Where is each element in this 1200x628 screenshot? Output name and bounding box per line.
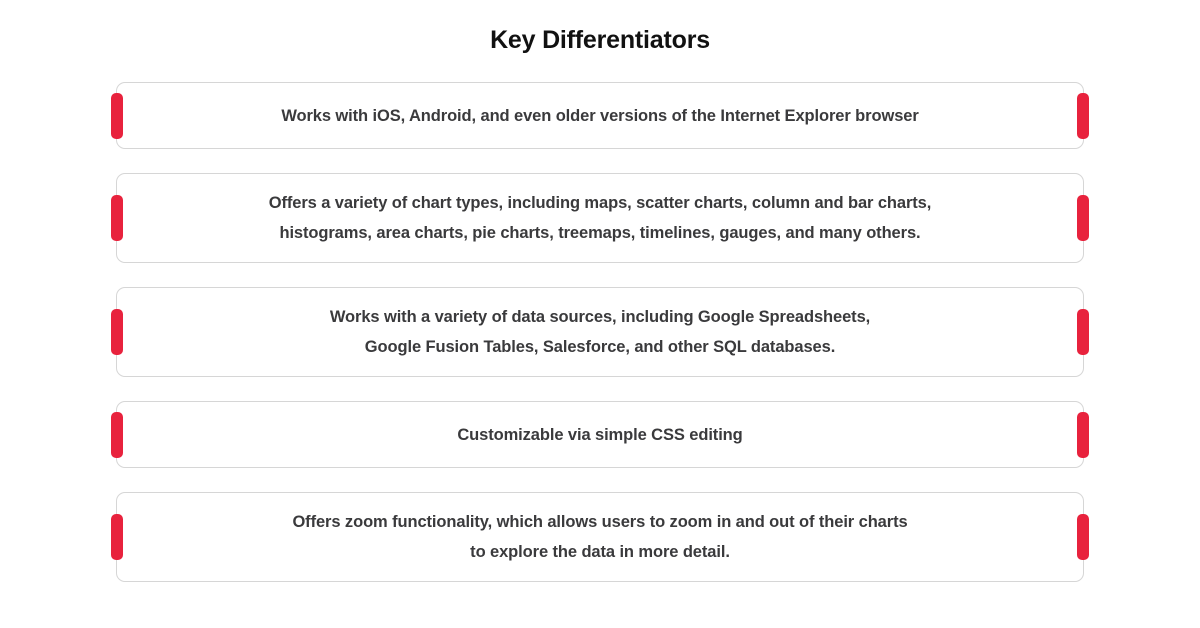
accent-bar-right-icon [1077,514,1089,560]
slide-canvas: Key Differentiators Works with iOS, Andr… [0,0,1200,628]
list-item[interactable]: Customizable via simple CSS editing [116,401,1084,468]
page-title: Key Differentiators [0,0,1200,56]
accent-bar-right-icon [1077,195,1089,241]
accent-bar-left-icon [111,412,123,458]
card-text: Works with iOS, Android, and even older … [281,101,918,131]
card-text: Offers a variety of chart types, includi… [269,188,932,248]
card-text: Offers zoom functionality, which allows … [292,507,907,567]
card-body[interactable]: Offers zoom functionality, which allows … [116,492,1084,582]
card-body[interactable]: Works with iOS, Android, and even older … [116,82,1084,149]
accent-bar-left-icon [111,195,123,241]
accent-bar-left-icon [111,93,123,139]
card-text: Customizable via simple CSS editing [457,420,742,450]
accent-bar-right-icon [1077,412,1089,458]
accent-bar-right-icon [1077,93,1089,139]
list-item[interactable]: Offers a variety of chart types, includi… [116,173,1084,263]
card-body[interactable]: Offers a variety of chart types, includi… [116,173,1084,263]
accent-bar-left-icon [111,309,123,355]
card-text: Works with a variety of data sources, in… [330,302,870,362]
card-body[interactable]: Works with a variety of data sources, in… [116,287,1084,377]
accent-bar-left-icon [111,514,123,560]
accent-bar-right-icon [1077,309,1089,355]
list-item[interactable]: Works with a variety of data sources, in… [116,287,1084,377]
list-item[interactable]: Works with iOS, Android, and even older … [116,82,1084,149]
differentiator-card-list: Works with iOS, Android, and even older … [0,82,1200,606]
list-item[interactable]: Offers zoom functionality, which allows … [116,492,1084,582]
card-body[interactable]: Customizable via simple CSS editing [116,401,1084,468]
